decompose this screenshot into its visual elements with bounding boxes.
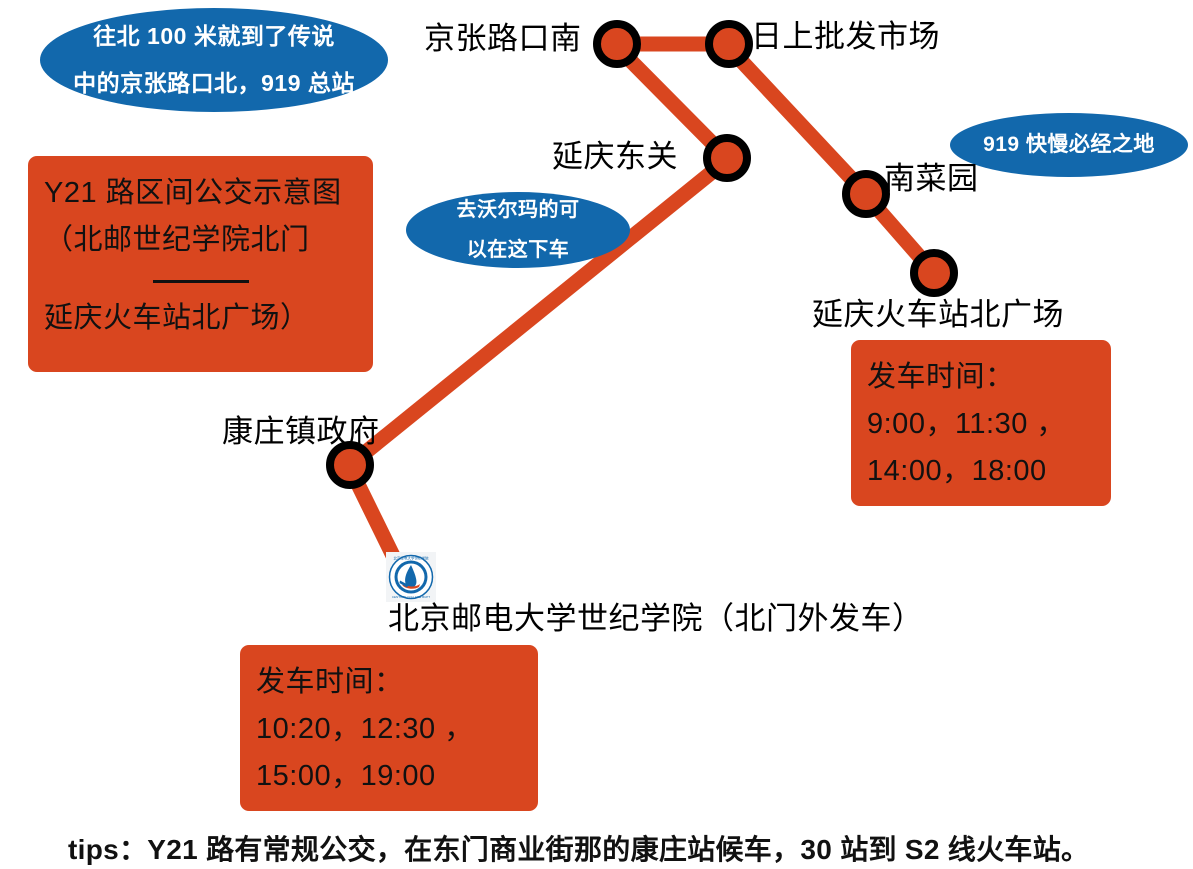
- schedule-university-heading: 发车时间：: [256, 659, 522, 706]
- schedule-box-from-train-station: 发车时间： 9:00，11:30 ， 14:00，18:00: [851, 340, 1111, 506]
- station-label-beiyou: 北京邮电大学世纪学院（北门外发车）: [388, 602, 924, 637]
- diagram-title-box: Y21 路区间公交示意图 （北邮世纪学院北门 延庆火车站北广场）: [28, 156, 373, 372]
- station-label-rishang: 日上批发市场: [751, 20, 940, 55]
- station-label-nancaiyuan: 南菜园: [884, 162, 979, 197]
- beiyou-century-college-logo-icon: 北京邮电大学世纪学院 CENTURY COLLEGE BUPT: [386, 552, 436, 602]
- schedule-train-heading: 发车时间：: [867, 354, 1095, 401]
- title-line-3: 延庆火车站北广场）: [44, 295, 357, 342]
- title-line-2: （北邮世纪学院北门: [44, 217, 357, 264]
- station-label-yanqingdongguan: 延庆东关: [552, 140, 678, 175]
- route-diagram-canvas: 往北 100 米就到了传说 中的京张路口北，919 总站 去沃尔玛的可 以在这下…: [0, 0, 1193, 869]
- callout-walmart-line-2: 以在这下车: [467, 230, 570, 270]
- callout-north-line-1: 往北 100 米就到了传说: [93, 13, 335, 60]
- station-node-yanqinghuochezhan: [914, 253, 954, 293]
- station-node-yanqingdongguan: [707, 138, 747, 178]
- schedule-box-from-university: 发车时间： 10:20，12:30 ， 15:00，19:00: [240, 645, 538, 811]
- title-line-1: Y21 路区间公交示意图: [44, 170, 357, 217]
- callout-walmart: 去沃尔玛的可 以在这下车: [406, 192, 630, 268]
- schedule-university-times-1: 10:20，12:30 ，: [256, 706, 522, 753]
- schedule-train-times-2: 14:00，18:00: [867, 448, 1095, 495]
- callout-north-line-2: 中的京张路口北，919 总站: [73, 60, 355, 107]
- station-node-kangzhuang: [330, 445, 370, 485]
- callout-919-route: 919 快慢必经之地: [950, 113, 1188, 177]
- callout-walmart-line-1: 去沃尔玛的可: [457, 190, 580, 230]
- station-node-rishang: [709, 24, 749, 64]
- segment-rishang-nancaiyuan: [733, 52, 864, 192]
- station-label-jingzhang: 京张路口南: [424, 22, 582, 57]
- station-label-yanqinghuochezhan: 延庆火车站北广场: [812, 298, 1064, 333]
- station-node-nancaiyuan: [846, 174, 886, 214]
- tips-footer-text: tips：Y21 路有常规公交，在东门商业街那的康庄站候车，30 站到 S2 线…: [68, 828, 1089, 868]
- schedule-train-times-1: 9:00，11:30 ，: [867, 401, 1095, 448]
- callout-north-919-terminus: 往北 100 米就到了传说 中的京张路口北，919 总站: [40, 8, 388, 112]
- schedule-university-times-2: 15:00，19:00: [256, 753, 522, 800]
- callout-919-line-1: 919 快慢必经之地: [983, 132, 1155, 157]
- station-node-jingzhang: [597, 24, 637, 64]
- svg-text:北京邮电大学世纪学院: 北京邮电大学世纪学院: [394, 556, 429, 561]
- station-label-kangzhuang: 康庄镇政府: [222, 415, 380, 450]
- title-divider: [153, 280, 249, 283]
- svg-text:CENTURY COLLEGE BUPT: CENTURY COLLEGE BUPT: [392, 595, 430, 599]
